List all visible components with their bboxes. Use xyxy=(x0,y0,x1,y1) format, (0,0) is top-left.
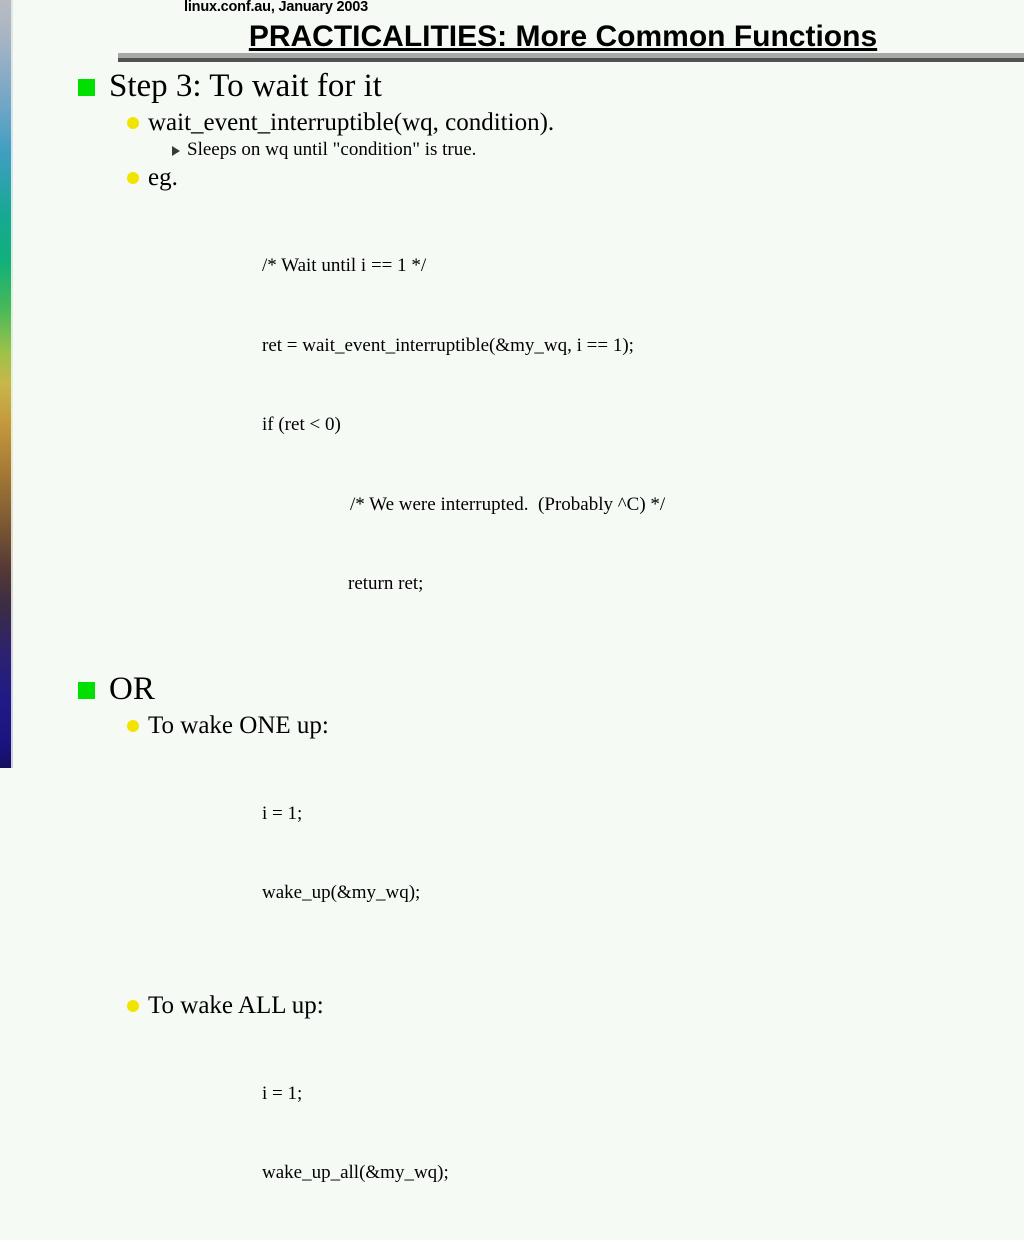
square-bullet-icon xyxy=(78,682,95,699)
triangle-bullet-icon xyxy=(172,146,180,156)
bullet-level2-wake-all: To wake ALL up: xyxy=(0,990,1024,1021)
bullet-level2-wait-event: wait_event_interruptible(wq, condition). xyxy=(0,107,1024,138)
spacer xyxy=(0,960,1024,990)
code-line: /* We were interrupted. (Probably ^C) */ xyxy=(262,492,1024,519)
code-line: wake_up_all(&my_wq); xyxy=(262,1160,1024,1187)
code-line: i = 1; xyxy=(262,1081,1024,1108)
square-bullet-icon xyxy=(78,79,95,96)
code-block-wake-one: i = 1; wake_up(&my_wq); xyxy=(0,748,1024,960)
bullet-level2-eg: eg. xyxy=(0,162,1024,193)
title-divider-rule xyxy=(118,53,1024,62)
code-block-wake-all: i = 1; wake_up_all(&my_wq); xyxy=(0,1028,1024,1240)
bullet-level1-or-label: OR xyxy=(109,669,155,710)
code-line: i = 1; xyxy=(262,801,1024,828)
bullet-level3-sleeps: Sleeps on wq until "condition" is true. xyxy=(0,138,1024,162)
spacer xyxy=(0,741,1024,748)
bullet-level1-step3-label: Step 3: To wait for it xyxy=(109,66,382,107)
bullet-level1-step3: Step 3: To wait for it xyxy=(0,66,1024,107)
bullet-level2-wake-one: To wake ONE up: xyxy=(0,710,1024,741)
slide-header-conference-date: linux.conf.au, January 2003 xyxy=(184,0,368,15)
circle-bullet-icon xyxy=(127,1000,139,1012)
circle-bullet-icon xyxy=(127,720,139,732)
code-line: ret = wait_event_interruptible(&my_wq, i… xyxy=(262,333,1024,360)
bullet-level2-wake-all-label: To wake ALL up: xyxy=(148,990,324,1021)
bullet-level2-wait-event-label: wait_event_interruptible(wq, condition). xyxy=(148,107,554,138)
title-divider-shadow xyxy=(118,58,1024,62)
code-line: wake_up(&my_wq); xyxy=(262,880,1024,907)
bullet-level2-eg-label: eg. xyxy=(148,162,178,193)
spacer xyxy=(0,651,1024,669)
bullet-level3-sleeps-label: Sleeps on wq until "condition" is true. xyxy=(187,138,476,162)
code-line: if (ret < 0) xyxy=(262,412,1024,439)
spacer xyxy=(0,193,1024,200)
code-line: /* Wait until i == 1 */ xyxy=(262,253,1024,280)
slide-body: Step 3: To wait for it wait_event_interr… xyxy=(0,66,1024,1240)
bullet-level1-or: OR xyxy=(0,669,1024,710)
page-title: PRACTICALITIES: More Common Functions xyxy=(118,20,1008,54)
circle-bullet-icon xyxy=(127,117,139,129)
code-block-wait: /* Wait until i == 1 */ ret = wait_event… xyxy=(0,200,1024,651)
bullet-level2-wake-one-label: To wake ONE up: xyxy=(148,710,329,741)
code-line: return ret; xyxy=(262,571,1024,598)
spacer xyxy=(0,1021,1024,1028)
circle-bullet-icon xyxy=(127,172,139,184)
